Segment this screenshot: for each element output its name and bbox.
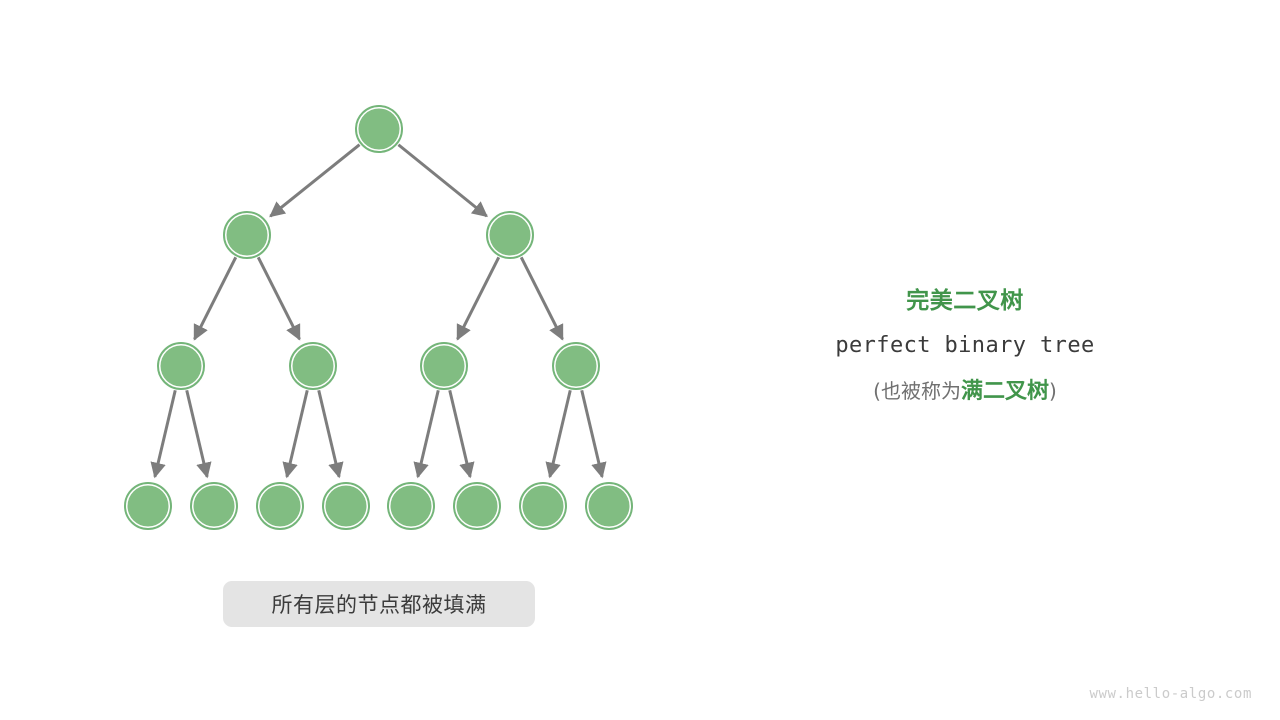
tree-edge: [195, 257, 236, 339]
tree-edge: [319, 390, 339, 476]
tree-node-fill: [293, 346, 334, 387]
tree-node-fill: [490, 215, 531, 256]
tree-node: [487, 212, 533, 258]
tree-node: [323, 483, 369, 529]
watermark: www.hello-algo.com: [1089, 686, 1252, 702]
tree-node-fill: [391, 486, 432, 527]
tree-node: [191, 483, 237, 529]
tree-node-fill: [161, 346, 202, 387]
tree-edge-layer: [155, 145, 602, 477]
legend-alias-suffix: ): [1049, 379, 1057, 403]
tree-node: [125, 483, 171, 529]
tree-node-fill: [589, 486, 630, 527]
tree-node: [454, 483, 500, 529]
tree-node: [356, 106, 402, 152]
legend-title: 完美二叉树: [770, 290, 1160, 313]
tree-node-fill: [457, 486, 498, 527]
tree-node: [257, 483, 303, 529]
tree-node: [388, 483, 434, 529]
tree-edge: [550, 390, 570, 476]
tree-edge: [287, 390, 307, 476]
caption-pill: 所有层的节点都被填满: [223, 581, 535, 627]
tree-node: [158, 343, 204, 389]
tree-node-fill: [128, 486, 169, 527]
legend-block: 完美二叉树 perfect binary tree (也被称为满二叉树): [770, 290, 1160, 403]
tree-node-fill: [424, 346, 465, 387]
legend-alias-prefix: (也被称为: [873, 379, 961, 403]
tree-node-fill: [227, 215, 268, 256]
legend-alias: (也被称为满二叉树): [770, 381, 1160, 403]
tree-edge: [521, 257, 562, 339]
tree-edge: [418, 390, 438, 476]
legend-alias-strong: 满二叉树: [961, 379, 1049, 404]
tree-node: [520, 483, 566, 529]
tree-node-fill: [523, 486, 564, 527]
tree-edge: [450, 390, 470, 476]
tree-edge: [258, 257, 299, 339]
tree-edge: [270, 145, 359, 217]
tree-node-fill: [260, 486, 301, 527]
tree-edge: [582, 390, 602, 476]
tree-node-fill: [359, 109, 400, 150]
tree-node: [553, 343, 599, 389]
tree-node: [290, 343, 336, 389]
caption-text: 所有层的节点都被填满: [272, 589, 487, 619]
tree-node: [224, 212, 270, 258]
tree-node-fill: [326, 486, 367, 527]
tree-edge: [458, 257, 499, 339]
tree-edge: [187, 390, 207, 476]
legend-subtitle: perfect binary tree: [770, 335, 1160, 357]
tree-node: [586, 483, 632, 529]
tree-node-fill: [556, 346, 597, 387]
tree-node-fill: [194, 486, 235, 527]
tree-node: [421, 343, 467, 389]
tree-edge: [155, 390, 175, 476]
tree-node-layer: [125, 106, 632, 529]
tree-edge: [398, 145, 486, 216]
